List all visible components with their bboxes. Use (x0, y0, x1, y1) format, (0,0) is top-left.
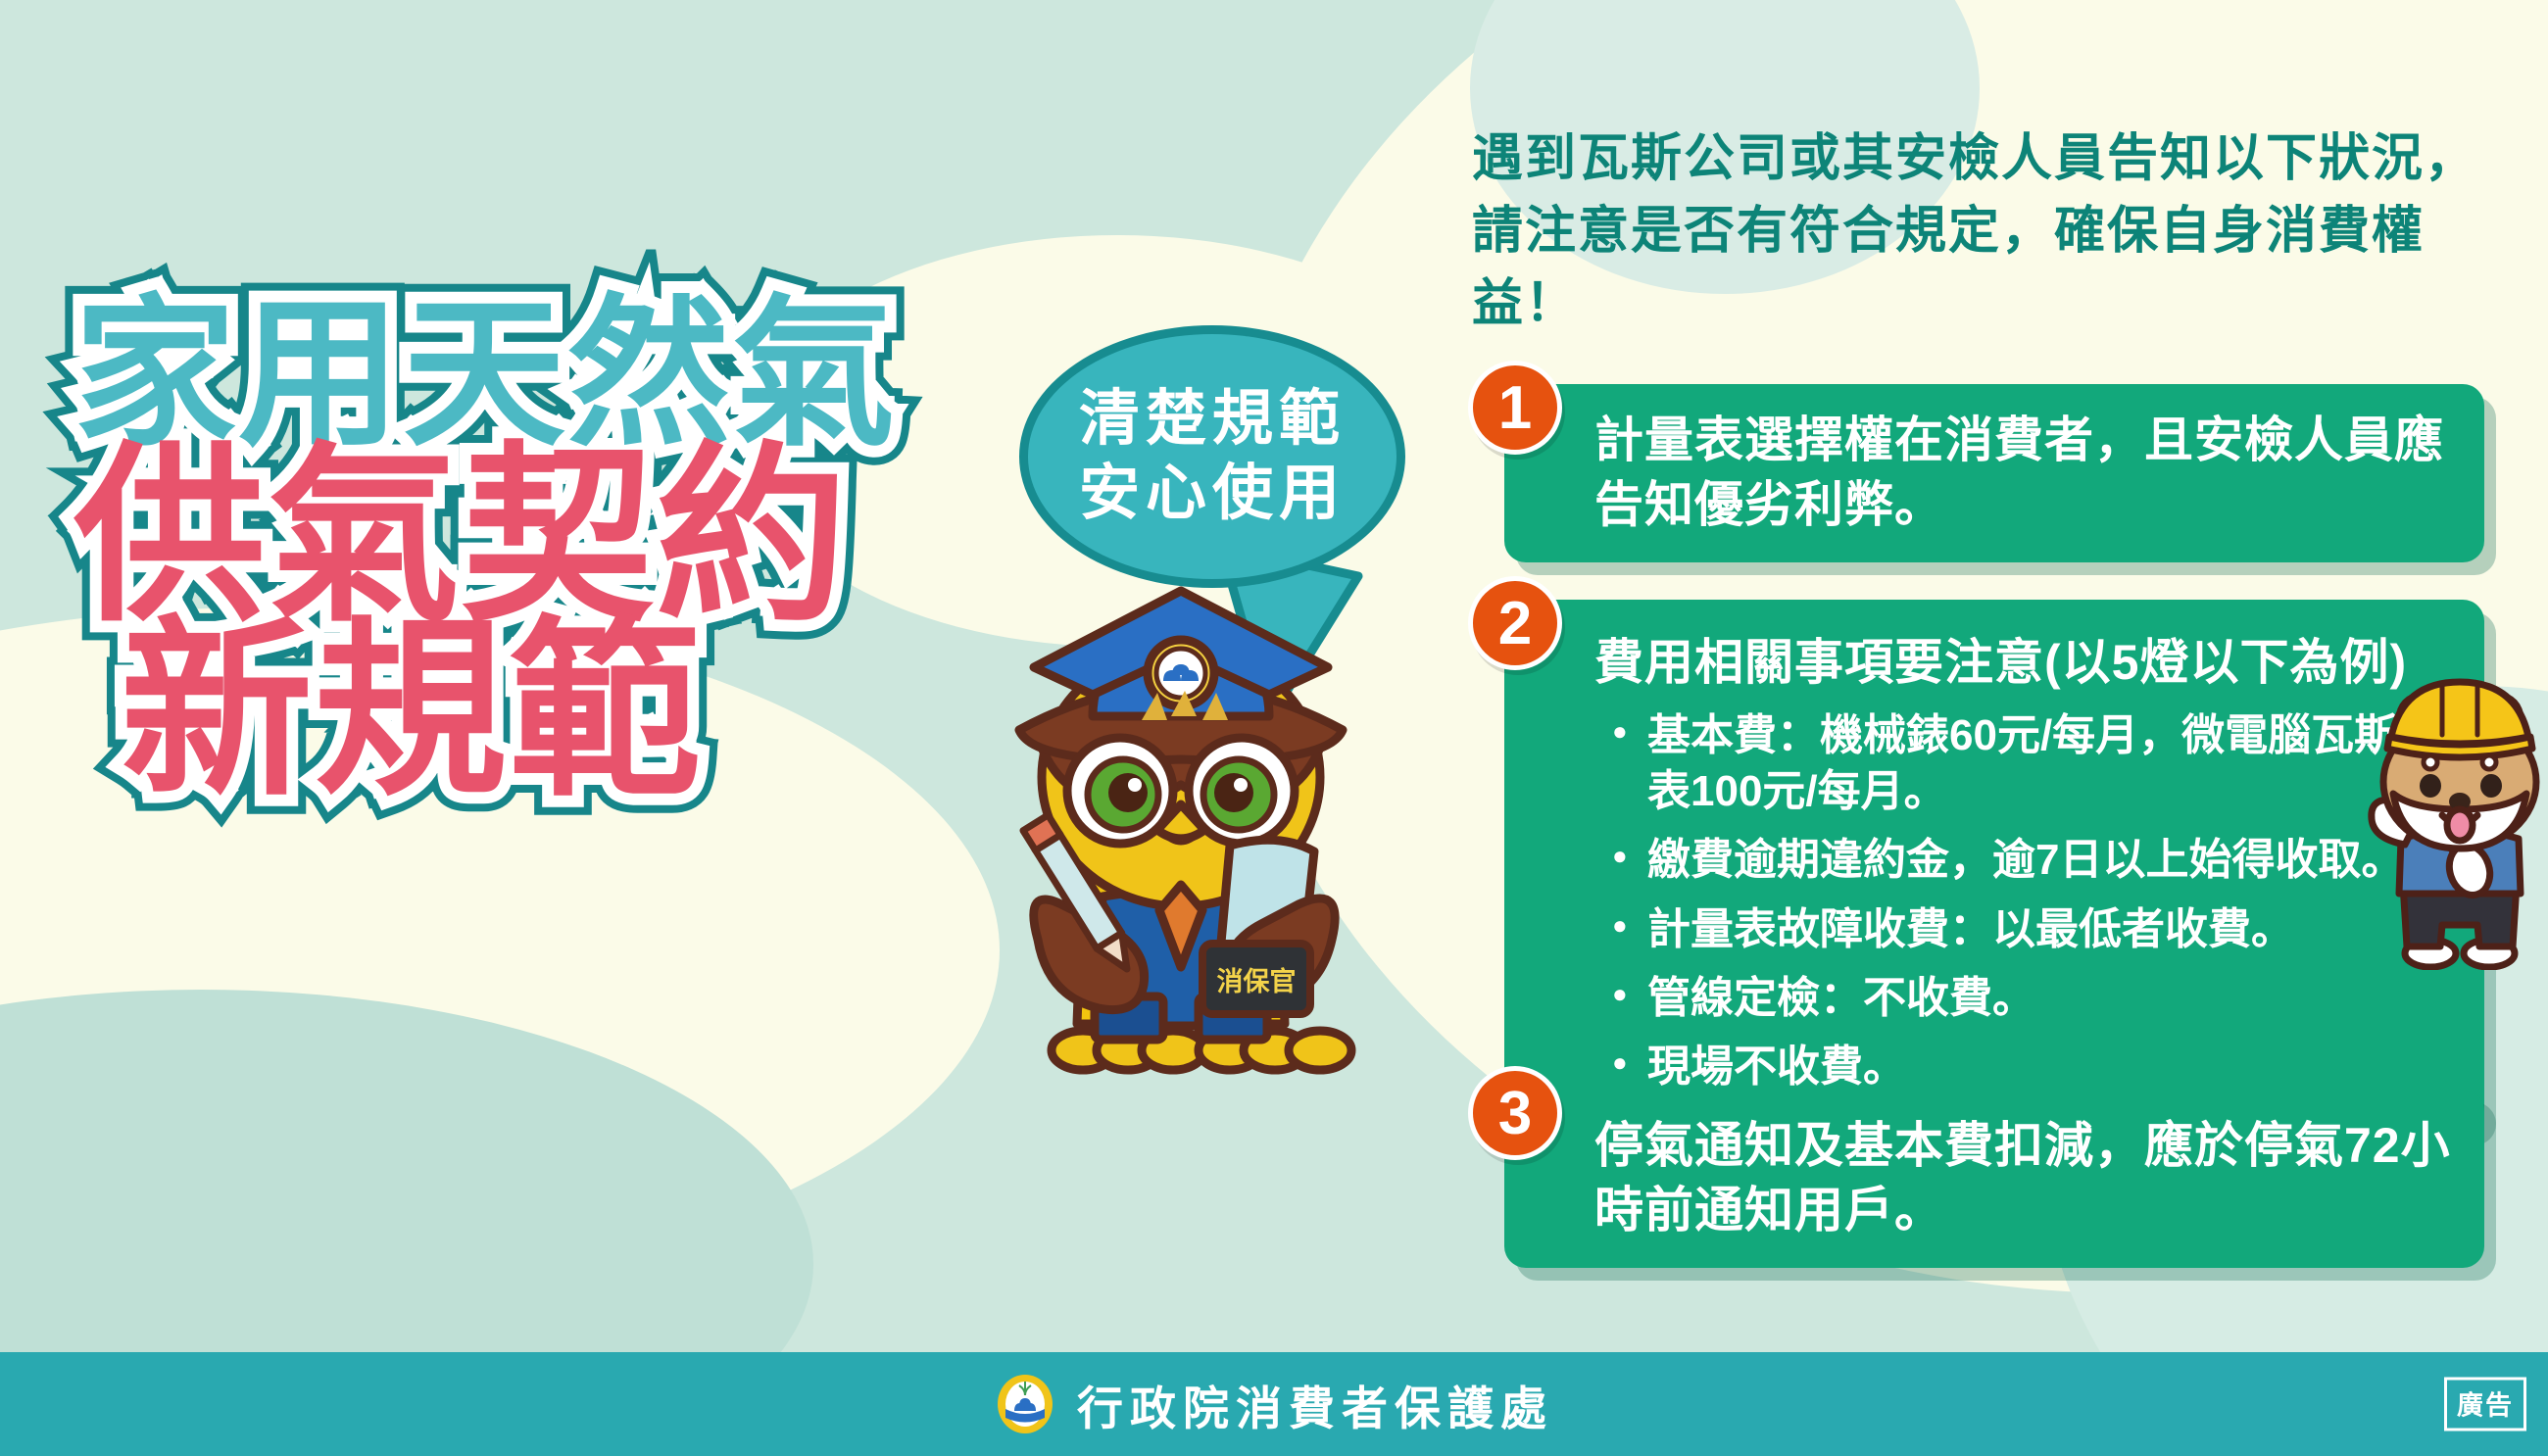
agency-logo-icon (995, 1374, 1055, 1434)
owl-badge-label: 消保官 (1217, 966, 1297, 996)
speech-bubble: 清楚規範 安心使用 (1019, 325, 1405, 588)
owl-mascot: 消保官 (936, 573, 1426, 1083)
dog-mascot (2332, 676, 2548, 970)
title-line-3-fill: 新規範 (121, 604, 703, 818)
poster-right-panel: 遇到瓦斯公司或其安檢人員告知以下狀況，請注意是否有符合規定，確保自身消費權益！ … (1450, 0, 2548, 1352)
item-1-number-badge: 1 (1468, 361, 1562, 455)
item-1-text: 計量表選擇權在消費者，且安檢人員應告知優劣利弊。 (1594, 408, 2455, 537)
item-1-card: 計量表選擇權在消費者，且安檢人員應告知優劣利弊。 (1504, 384, 2484, 562)
speech-bubble-line-2: 安心使用 (1079, 457, 1346, 531)
item-2-bullet-1: 基本費：機械錶60元/每月，微電腦瓦斯表100元/每月。 (1612, 707, 2425, 819)
footer-bar: 行政院消費者保護處 廣告 (0, 1352, 2548, 1456)
item-3-card: 停氣通知及基本費扣減，應於停氣72小時前通知用戶。 (1504, 1090, 2484, 1268)
item-3-text: 停氣通知及基本費扣減，應於停氣72小時前通知用戶。 (1594, 1113, 2455, 1242)
agency-name: 行政院消費者保護處 (1077, 1371, 1553, 1438)
poster-left-panel: 家用天然氣 家用天然氣 家用天然氣 供氣契約 供氣契約 供氣契約 新規範 新規範… (0, 0, 1431, 1352)
item-2-bullet-5: 現場不收費。 (1612, 1039, 2425, 1094)
item-2-bullet-list: 基本費：機械錶60元/每月，微電腦瓦斯表100元/每月。 繳費逾期違約金，逾7日… (1612, 707, 2455, 1094)
item-2-heading: 費用相關事項要注意(以5燈以下為例) (1594, 623, 2455, 694)
item-2-number-badge: 2 (1468, 576, 1562, 670)
speech-bubble-line-1: 清楚規範 (1079, 382, 1346, 457)
item-2-bullet-2: 繳費逾期違約金，逾7日以上始得收取。 (1612, 832, 2425, 888)
item-2-bullet-3: 計量表故障收費：以最低者收費。 (1612, 901, 2425, 957)
ad-badge: 廣告 (2444, 1378, 2526, 1432)
item-3-number-badge: 3 (1468, 1066, 1562, 1160)
intro-paragraph: 遇到瓦斯公司或其安檢人員告知以下狀況，請注意是否有符合規定，確保自身消費權益！ (1472, 123, 2491, 340)
footer-brand: 行政院消費者保護處 (995, 1371, 1553, 1438)
item-2-bullet-4: 管線定檢：不收費。 (1612, 970, 2425, 1026)
